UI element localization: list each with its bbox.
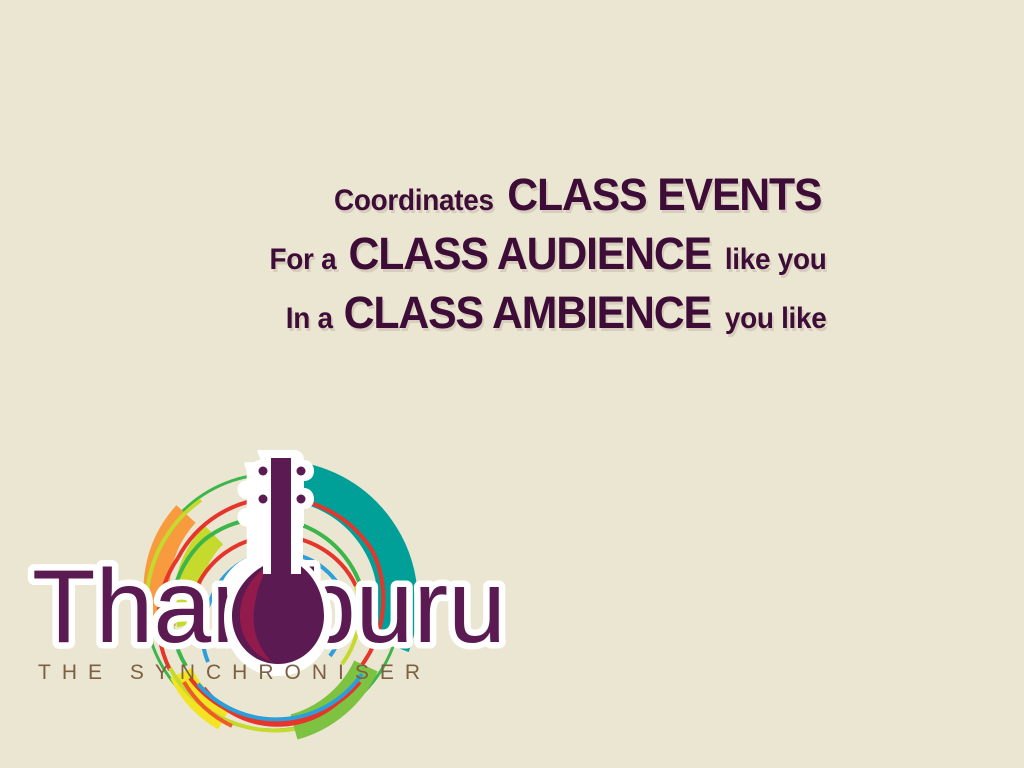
tanpura-neck-overlay (271, 534, 291, 574)
logo-tagline: THE SYNCHRONISER (38, 661, 431, 684)
headline-line-2-trail: like you (725, 245, 827, 275)
headline-line-3-trail: you like (725, 304, 827, 334)
headline-line-3-lead: In a (285, 304, 332, 334)
headline-block: Coordinates CLASS EVENTS For a CLASS AUD… (0, 172, 830, 345)
headline-line-1-emphasis: CLASS EVENTS (508, 172, 822, 217)
tuning-peg-right-upper (297, 467, 306, 476)
headline-line-2: For a CLASS AUDIENCE like you (0, 231, 830, 276)
headline-line-1: Coordinates CLASS EVENTS (0, 172, 830, 217)
tuning-peg-right-lower (297, 495, 306, 504)
tuning-peg-left-lower (259, 495, 268, 504)
headline-line-3-emphasis: CLASS AMBIENCE (344, 290, 711, 335)
headline-line-2-emphasis: CLASS AUDIENCE (349, 231, 711, 276)
tuning-peg-left-upper (259, 467, 268, 476)
headline-line-1-lead: Coordinates (334, 186, 494, 216)
slide-canvas: Coordinates CLASS EVENTS For a CLASS AUD… (0, 0, 1024, 768)
headline-line-2-lead: For a (270, 245, 337, 275)
headline-line-3: In a CLASS AMBIENCE you like (0, 290, 830, 335)
thamburu-logo[interactable]: Thamburu Thamburu THE SYNCHRONISER (18, 434, 528, 744)
